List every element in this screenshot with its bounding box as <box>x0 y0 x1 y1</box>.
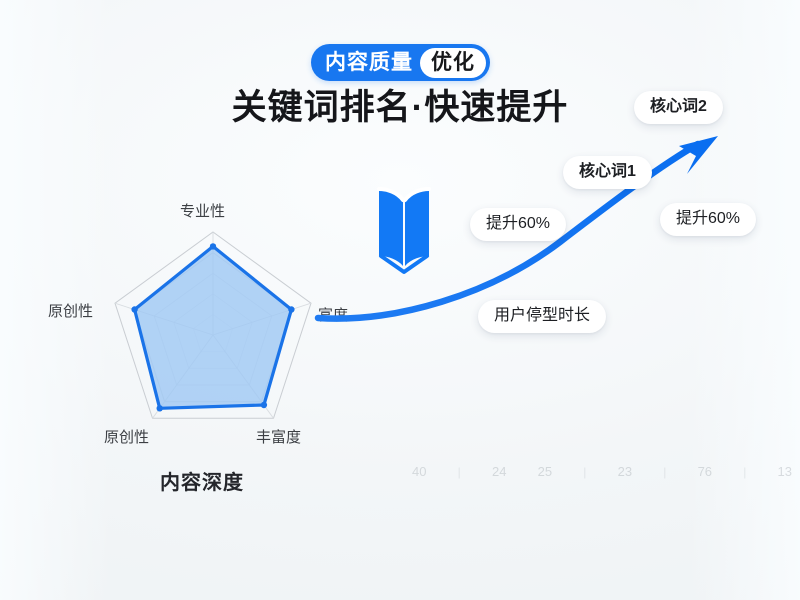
axis-tick-mark: | <box>583 465 586 479</box>
radar-axis-label-0: 专业性 <box>180 200 225 221</box>
axis-tick-value: 23 <box>618 464 632 479</box>
radar-axis-label-3: 原创性 <box>104 426 149 447</box>
axis-tick-value: 25 <box>538 464 552 479</box>
callout-keyword-1: 核心词1 <box>563 156 652 189</box>
axis-tick-mark: | <box>663 465 666 479</box>
callout-lift-left: 提升60% <box>470 208 566 241</box>
axis-tick-row: 40|2425|23|76|13 <box>412 464 792 479</box>
axis-tick-value: 40 <box>412 464 426 479</box>
radar-series-content-quality <box>131 243 294 411</box>
open-book-icon <box>375 186 433 281</box>
callout-lift-right: 提升60% <box>660 203 756 236</box>
axis-tick-mark: | <box>743 465 746 479</box>
badge-main-label: 内容质量 <box>325 52 420 73</box>
radar-axis-label-4: 原创性 <box>48 300 93 321</box>
axis-tick-value: 24 <box>492 464 506 479</box>
slide-canvas: 内容质量 优化 关键词排名·快速提升 专业性 富度 丰富度 原创性 原创性 内容… <box>0 0 800 600</box>
radar-axis-label-2: 丰富度 <box>256 426 301 447</box>
callout-keyword-2: 核心词2 <box>634 91 723 124</box>
callout-dwell-time: 用户停型时长 <box>478 300 606 333</box>
content-depth-label: 内容深度 <box>160 466 244 495</box>
status-badge: 内容质量 优化 <box>311 44 490 81</box>
axis-tick-mark: | <box>458 465 461 479</box>
axis-tick-value: 76 <box>698 464 712 479</box>
badge-pill-label: 优化 <box>420 48 486 78</box>
axis-tick-value: 13 <box>778 464 792 479</box>
